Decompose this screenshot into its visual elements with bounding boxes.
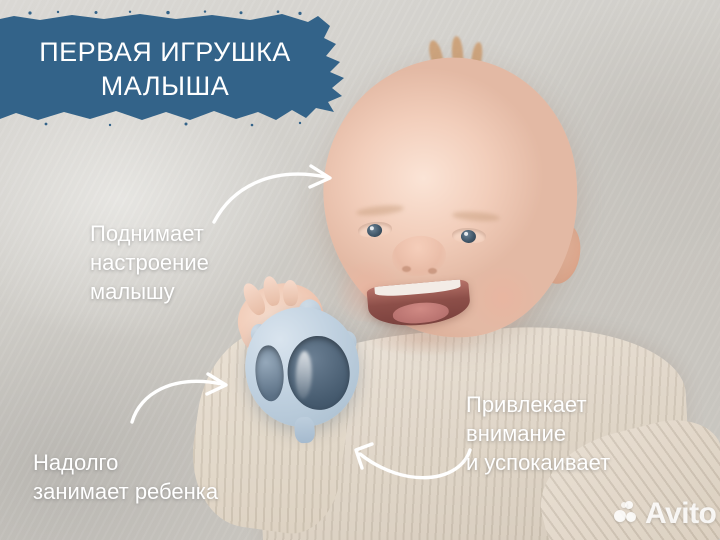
annotation-mood: Поднимает настроение малышу [90,219,209,306]
annotation-attention: Привлекает внимание и успокаивает [466,390,610,477]
headline-line-1: ПЕРВАЯ ИГРУШКА [39,37,291,69]
toy-strap [294,416,316,443]
headline-banner: ПЕРВАЯ ИГРУШКА МАЛЫША [0,10,352,124]
avito-wordmark: Avito [645,497,716,531]
baby-nostril [402,266,411,272]
product-listing-image: ПЕРВАЯ ИГРУШКА МАЛЫША Поднимает настроен… [0,0,720,540]
eye-iris [367,223,383,237]
annotation-occupies: Надолго занимает ребенка [33,448,218,506]
arrow-to-toy-icon [128,368,238,428]
baby-chin-shadow [366,322,486,356]
baby-nostril [428,268,437,274]
baby-cheek [464,268,542,328]
headline-text-block: ПЕРВАЯ ИГРУШКА МАЛЫША [0,10,330,124]
headline-line-2: МАЛЫША [101,71,229,103]
eye-iris [461,230,477,244]
arrow-to-face-icon [208,160,348,230]
silicone-teether-toy [239,295,368,433]
avito-dots-icon [614,501,640,527]
arrow-to-body-icon [344,432,474,494]
avito-watermark: Avito [614,497,716,531]
